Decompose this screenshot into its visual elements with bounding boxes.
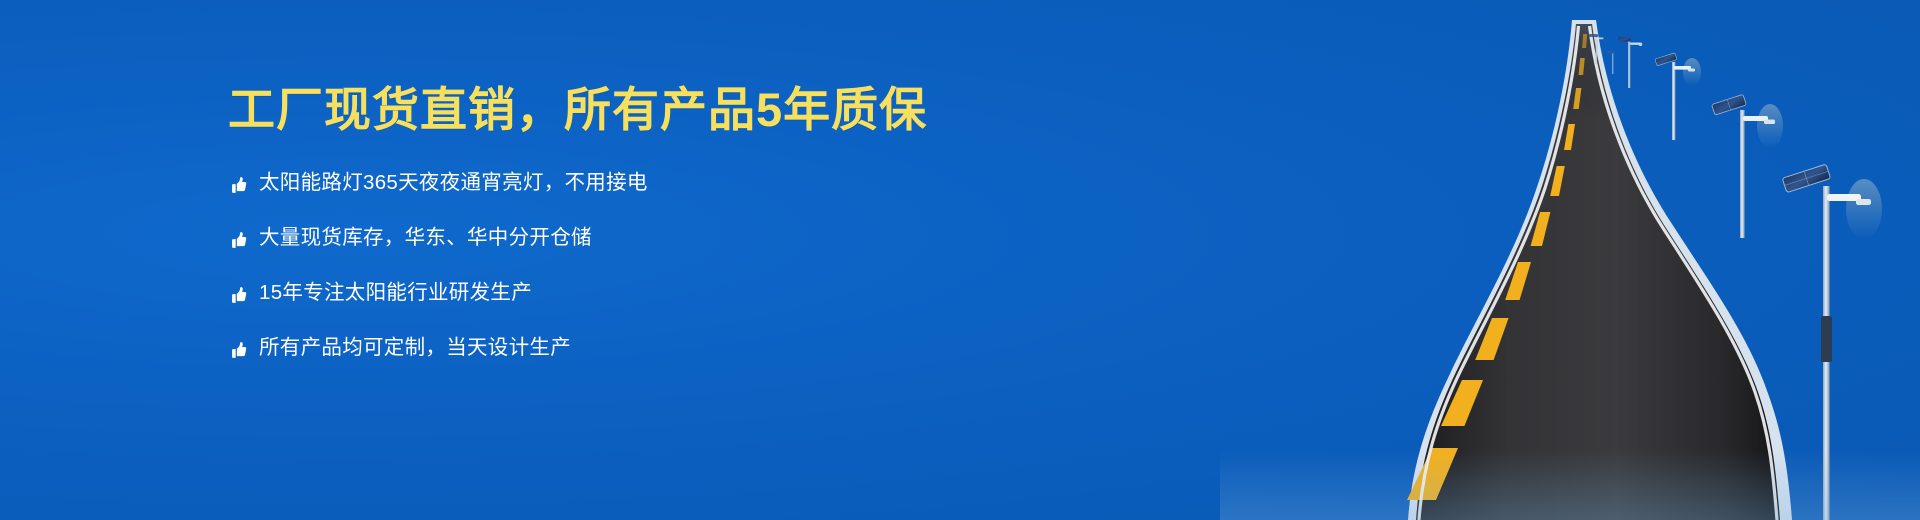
- promo-banner: 工厂现货直销，所有产品5年质保 太阳能路灯365天夜夜通宵亮灯，不用接电: [0, 0, 1920, 520]
- list-item: 15年专注太阳能行业研发生产: [228, 280, 988, 307]
- thumbs-up-icon: [228, 230, 248, 250]
- solar-street-lamp: [1655, 53, 1701, 140]
- solar-street-light-road-scene: [1220, 0, 1920, 520]
- list-item-label: 太阳能路灯365天夜夜通宵亮灯，不用接电: [259, 172, 648, 195]
- list-item: 太阳能路灯365天夜夜通宵亮灯，不用接电: [228, 170, 988, 197]
- distant-lamp-pole: [1607, 51, 1614, 74]
- solar-street-lamp: [1712, 94, 1783, 238]
- thumbs-up-icon: [228, 340, 248, 360]
- list-item-label: 所有产品均可定制，当天设计生产: [259, 337, 571, 360]
- list-item: 所有产品均可定制，当天设计生产: [228, 335, 988, 362]
- feature-list: 太阳能路灯365天夜夜通宵亮灯，不用接电 大量现货库存，华东、华中分开仓储: [228, 170, 988, 362]
- solar-street-lamp: [1782, 164, 1882, 520]
- list-item: 大量现货库存，华东、华中分开仓储: [228, 225, 988, 252]
- solar-street-lamp: [1618, 37, 1642, 88]
- thumbs-up-icon: [228, 175, 248, 195]
- page-title: 工厂现货直销，所有产品5年质保: [228, 86, 988, 133]
- list-item-label: 大量现货库存，华东、华中分开仓储: [259, 227, 592, 250]
- list-item-label: 15年专注太阳能行业研发生产: [259, 282, 532, 305]
- road-surface: [1370, 0, 1820, 520]
- banner-copy: 工厂现货直销，所有产品5年质保 太阳能路灯365天夜夜通宵亮灯，不用接电: [228, 86, 988, 362]
- thumbs-up-icon: [228, 285, 248, 305]
